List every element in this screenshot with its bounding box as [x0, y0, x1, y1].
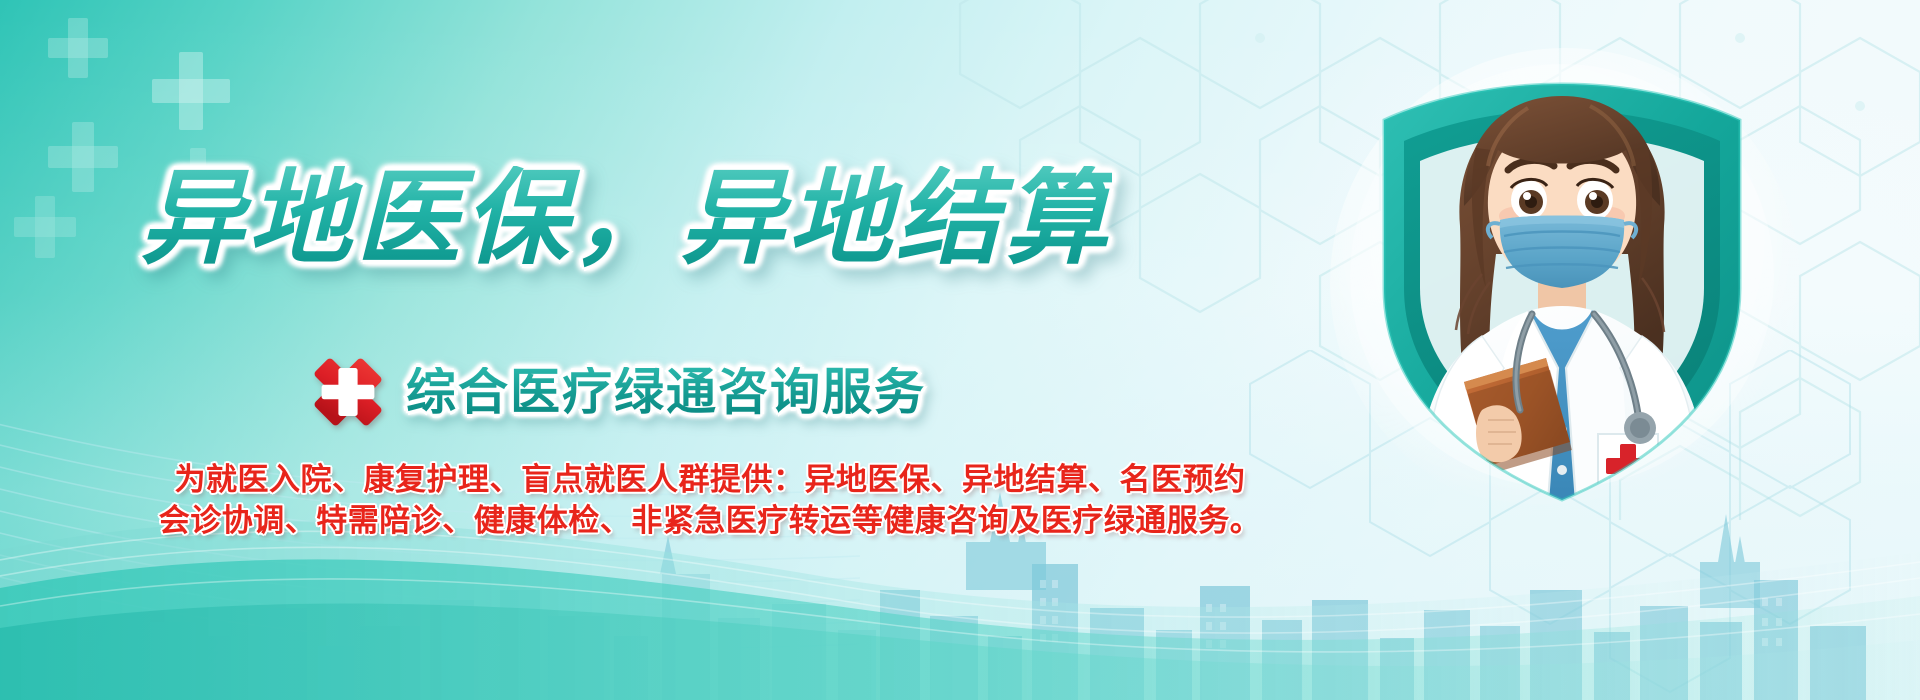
female-doctor-illustration — [1332, 38, 1792, 528]
red-cross-diamond-icon — [308, 352, 388, 432]
subtitle-row: 综合医疗绿通咨询服务 — [308, 352, 926, 432]
healthcare-promo-banner: 异地医保，异地结算 — [0, 0, 1920, 700]
description-line-1: 为就医入院、康复护理、盲点就医人群提供：异地医保、异地结算、名医预约 — [150, 460, 1270, 501]
service-description: 为就医入院、康复护理、盲点就医人群提供：异地医保、异地结算、名医预约 会诊协调、… — [150, 460, 1270, 542]
banner-text-content: 异地医保，异地结算 — [0, 0, 1300, 700]
page-title: 异地医保，异地结算 — [140, 166, 1112, 270]
description-line-2: 会诊协调、特需陪诊、健康体检、非紧急医疗转运等健康咨询及医疗绿通服务。 — [150, 501, 1270, 542]
page-subtitle: 综合医疗绿通咨询服务 — [406, 367, 926, 417]
